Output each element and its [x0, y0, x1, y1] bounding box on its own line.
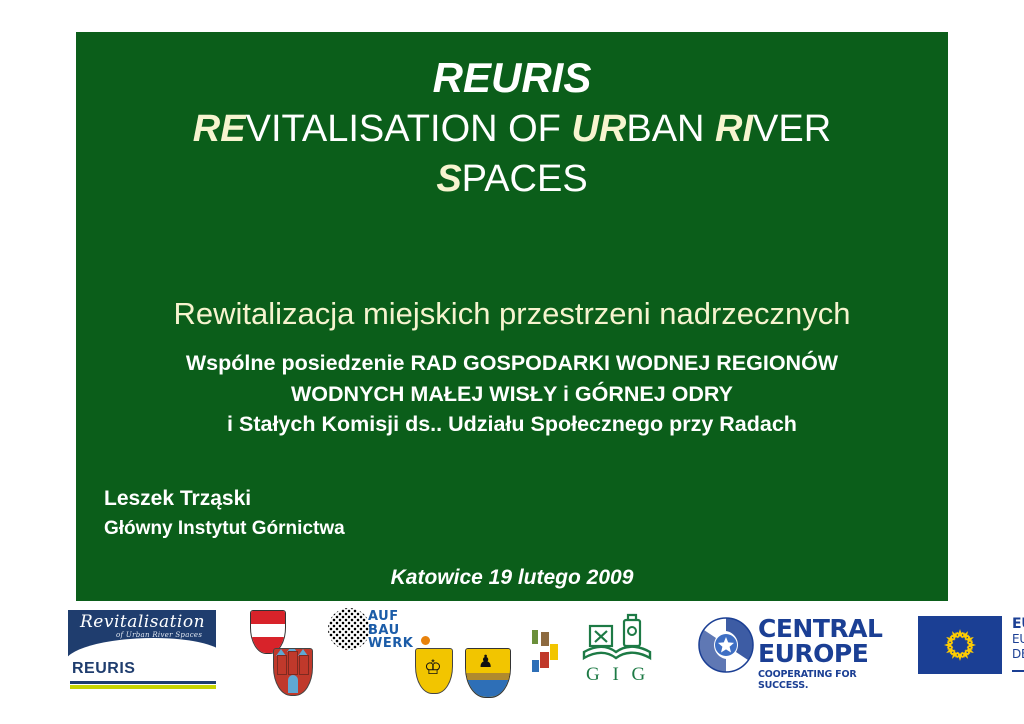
title-line-expansion: REVITALISATION OF URBAN RIVER — [76, 104, 948, 154]
meeting-line-2: WODNYCH MAŁEJ WISŁY i GÓRNEJ ODRY — [76, 379, 948, 410]
title-line-spaces: SPACES — [76, 154, 948, 204]
eu-stars-icon — [918, 616, 1002, 674]
brno-tower-1 — [277, 655, 287, 675]
slide-title: REURIS REVITALISATION OF URBAN RIVER SPA… — [76, 52, 948, 204]
halftone-circle-icon — [328, 608, 370, 650]
stuttgart-horse-glyph: ♔ — [424, 657, 444, 681]
eu-underline-rule — [1012, 670, 1024, 672]
title-hl-ri: RI — [715, 108, 753, 150]
central-europe-line-2: EUROPE — [758, 641, 908, 666]
central-europe-swirl-icon — [696, 612, 756, 678]
eu-line-1: EUROPEAN UNION — [1012, 616, 1024, 632]
reuris-logo-box: Revitalisation of Urban River Spaces — [68, 610, 216, 660]
eu-flag-icon — [918, 616, 1002, 674]
polish-headline: Rewitalizacja miejskich przestrzeni nadr… — [76, 294, 948, 334]
logo-strip: Revitalisation of Urban River Spaces REU… — [60, 604, 970, 710]
aufbauwerk-line-2: BAU — [368, 624, 432, 638]
brno-tower-2 — [288, 651, 298, 675]
katowice-coat-of-arms-icon: ♟ — [465, 648, 511, 698]
place-and-date: Katowice 19 lutego 2009 — [76, 566, 948, 590]
title-hl-ur: UR — [571, 108, 626, 150]
eu-line-3: DEVELOPMENT FUND — [1012, 647, 1024, 662]
title-txt-paces: PACES — [462, 158, 588, 200]
aufbauwerk-dot-icon — [421, 636, 430, 645]
slide-panel: REURIS REVITALISATION OF URBAN RIVER SPA… — [76, 32, 948, 601]
austria-band-top — [251, 611, 285, 624]
central-europe-line-1: CENTRAL — [758, 616, 908, 641]
author-name: Leszek Trząski — [104, 484, 704, 514]
brno-tower-3 — [299, 655, 309, 675]
meeting-line-3: i Stałych Komisji ds.. Udziału Społeczne… — [76, 409, 948, 440]
title-acronym: REURIS — [433, 54, 592, 101]
european-union-logo: EUROPEAN UNION EUROPEAN REGIONAL DEVELOP… — [918, 612, 1024, 690]
title-txt-ban: BAN — [626, 108, 715, 150]
aufbauwerk-line-1: AUF — [368, 610, 432, 624]
author-block: Leszek Trząski Główny Instytut Górnictwa — [104, 484, 704, 544]
central-europe-logo: CENTRAL EUROPE COOPERATING FOR SUCCESS. — [696, 612, 908, 690]
title-txt-ver: VER — [753, 108, 831, 150]
reuris-acronym-text: REURIS — [72, 660, 135, 678]
title-hl-re: RE — [193, 108, 246, 150]
reuris-rule-blue — [70, 681, 216, 684]
brno-gate — [288, 675, 298, 693]
gig-book-icon — [578, 612, 656, 666]
katowice-band — [466, 673, 510, 680]
eu-line-2: EUROPEAN REGIONAL — [1012, 632, 1024, 647]
central-europe-tagline: COOPERATING FOR SUCCESS. — [758, 669, 908, 691]
title-txt-vitalisation-of: VITALISATION OF — [246, 108, 572, 150]
eu-wordmark: EUROPEAN UNION EUROPEAN REGIONAL DEVELOP… — [1012, 616, 1024, 662]
katowice-field-bottom — [466, 680, 510, 697]
stuttgart-coat-of-arms-icon: ♔ — [415, 648, 453, 694]
reuris-rule-yellow — [70, 685, 216, 689]
central-europe-wordmark: CENTRAL EUROPE COOPERATING FOR SUCCESS. — [758, 616, 908, 691]
gig-acronym-text: G I G — [586, 664, 649, 686]
title-line-reuris: REURIS — [76, 52, 948, 104]
meeting-line-1: Wspólne posiedzenie RAD GOSPODARKI WODNE… — [76, 348, 948, 379]
reuris-wave-shape — [68, 638, 216, 660]
author-affiliation: Główny Instytut Górnictwa — [104, 514, 704, 544]
title-hl-s: S — [436, 158, 461, 200]
reuris-script-text: Revitalisation — [80, 612, 205, 632]
katowice-figure-glyph: ♟ — [478, 652, 498, 672]
gig-logo: G I G — [578, 612, 656, 688]
brno-coat-of-arms-icon — [273, 648, 313, 696]
reuris-logo: Revitalisation of Urban River Spaces REU… — [68, 610, 216, 690]
ornate-coat-of-arms-icon — [528, 626, 562, 688]
meeting-info: Wspólne posiedzenie RAD GOSPODARKI WODNE… — [76, 348, 948, 440]
